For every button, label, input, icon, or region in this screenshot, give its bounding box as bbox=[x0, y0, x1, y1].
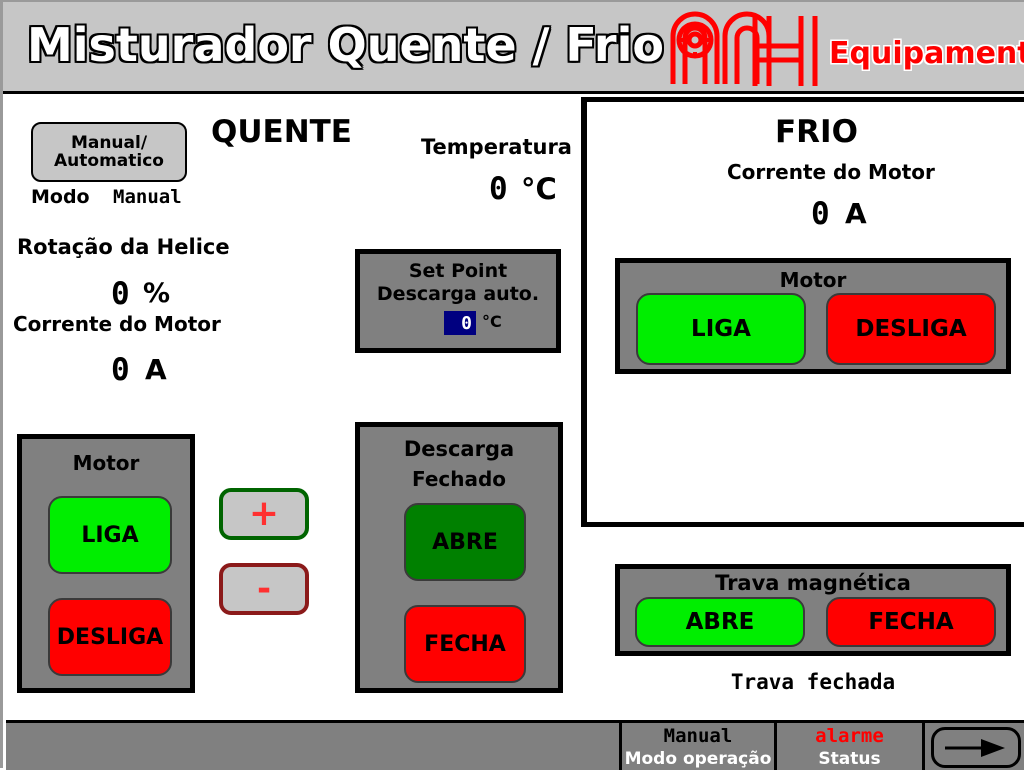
rotation-value: 0 bbox=[111, 276, 130, 312]
descarga-title: Descarga bbox=[360, 437, 558, 461]
descarga-close-button[interactable]: FECHA bbox=[404, 605, 526, 683]
trava-status: Trava fechada bbox=[615, 670, 1011, 694]
rotation-unit: % bbox=[143, 278, 170, 309]
status-cell-mode: Manual Modo operação bbox=[619, 723, 774, 770]
setpoint-title-line1: Set Point bbox=[360, 260, 556, 282]
trava-open-button[interactable]: ABRE bbox=[635, 597, 805, 647]
frio-current-label: Corrente do Motor bbox=[727, 160, 935, 184]
quente-section-title: QUENTE bbox=[211, 114, 352, 150]
status-mode-value: Manual bbox=[622, 725, 774, 747]
status-cell-nav bbox=[922, 723, 1024, 770]
descarga-group: Descarga Fechado ABRE FECHA bbox=[355, 422, 563, 693]
trava-title: Trava magnética bbox=[620, 571, 1006, 595]
header-bar: Misturador Quente / Frio bbox=[3, 2, 1024, 94]
rotation-increment-button[interactable]: + bbox=[219, 488, 309, 540]
descarga-open-button[interactable]: ABRE bbox=[404, 503, 526, 581]
frio-current-value: 0 bbox=[811, 196, 830, 232]
frio-section-title: FRIO bbox=[775, 114, 858, 150]
rotation-label: Rotação da Helice bbox=[17, 235, 230, 259]
setpoint-input[interactable]: 0 bbox=[444, 311, 476, 335]
quente-motor-group: Motor LIGA DESLIGA bbox=[17, 434, 195, 693]
next-screen-button[interactable] bbox=[931, 727, 1021, 768]
mode-toggle-line1: Manual/ bbox=[71, 134, 147, 152]
hmi-screen: Misturador Quente / Frio bbox=[0, 0, 1024, 768]
temperature-value: 0 bbox=[489, 171, 508, 207]
frio-motor-group: Motor LIGA DESLIGA bbox=[615, 258, 1011, 374]
quente-current-unit: A bbox=[145, 353, 167, 386]
plus-icon: + bbox=[249, 496, 279, 532]
descarga-status: Fechado bbox=[360, 467, 558, 491]
rotation-decrement-button[interactable]: - bbox=[219, 563, 309, 615]
setpoint-unit: °C bbox=[482, 312, 502, 331]
trava-group: Trava magnética ABRE FECHA bbox=[615, 564, 1011, 656]
setpoint-group: Set Point Descarga auto. 0 °C bbox=[355, 249, 561, 353]
mode-toggle-line2: Automatico bbox=[54, 152, 164, 170]
status-mode-caption: Modo operação bbox=[622, 749, 774, 769]
setpoint-title-line2: Descarga auto. bbox=[360, 283, 556, 305]
quente-current-label: Corrente do Motor bbox=[13, 312, 221, 336]
quente-motor-on-button[interactable]: LIGA bbox=[48, 496, 172, 574]
mh-logo-icon: Equipamentos bbox=[651, 6, 1024, 92]
frio-motor-on-button[interactable]: LIGA bbox=[636, 293, 806, 365]
quente-current-value: 0 bbox=[111, 352, 130, 388]
temperature-unit: °C bbox=[521, 172, 557, 206]
trava-close-button[interactable]: FECHA bbox=[826, 597, 996, 647]
mode-label: Modo bbox=[31, 186, 90, 208]
status-alarm-caption: Status bbox=[777, 749, 922, 769]
status-alarm-value: alarme bbox=[777, 725, 922, 747]
arrow-right-icon bbox=[943, 736, 1009, 760]
page-title: Misturador Quente / Frio bbox=[27, 18, 664, 72]
minus-icon: - bbox=[257, 572, 271, 606]
frio-motor-title: Motor bbox=[620, 268, 1006, 292]
logo-wordmark: Equipamentos bbox=[829, 36, 1024, 71]
mode-value: Manual bbox=[113, 186, 182, 208]
status-bar: Manual Modo operação alarme Status bbox=[6, 720, 1024, 770]
mode-toggle-button[interactable]: Manual/ Automatico bbox=[31, 122, 187, 182]
quente-motor-off-button[interactable]: DESLIGA bbox=[48, 598, 172, 676]
temperature-label: Temperatura bbox=[421, 135, 572, 159]
frio-motor-off-button[interactable]: DESLIGA bbox=[826, 293, 996, 365]
status-cell-alarm: alarme Status bbox=[774, 723, 922, 770]
quente-motor-title: Motor bbox=[22, 451, 190, 475]
frio-current-unit: A bbox=[845, 197, 867, 230]
